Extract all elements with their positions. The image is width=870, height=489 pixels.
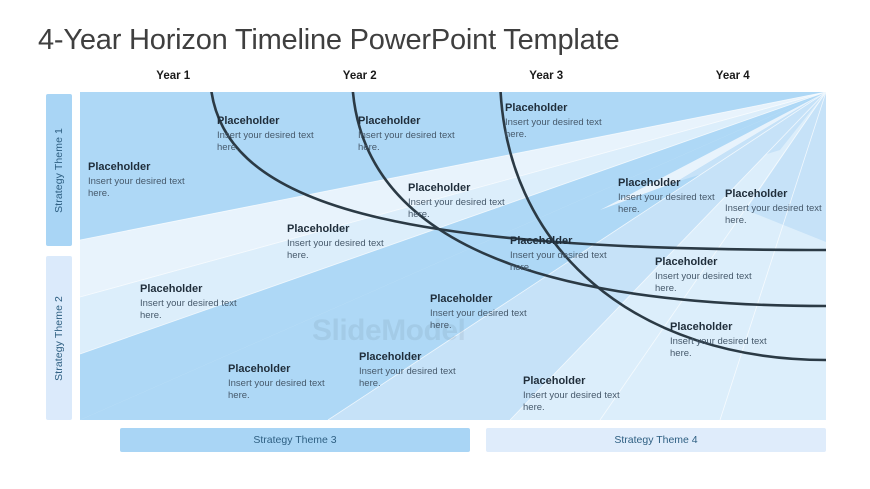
page-title: 4-Year Horizon Timeline PowerPoint Templ…: [38, 24, 619, 57]
placeholder-block[interactable]: PlaceholderInsert your desired text here…: [505, 101, 625, 140]
placeholder-body: Insert your desired text here.: [618, 192, 726, 215]
placeholder-title: Placeholder: [228, 362, 348, 376]
placeholder-title: Placeholder: [670, 320, 790, 334]
placeholder-title: Placeholder: [217, 114, 337, 128]
placeholder-title: Placeholder: [88, 160, 208, 174]
placeholder-title: Placeholder: [618, 176, 738, 190]
horizon-fan-diagram: PlaceholderInsert your desired text here…: [80, 92, 826, 420]
placeholder-body: Insert your desired text here.: [670, 336, 778, 359]
placeholder-body: Insert your desired text here.: [408, 197, 516, 220]
placeholder-title: Placeholder: [725, 187, 826, 201]
placeholder-title: Placeholder: [358, 114, 478, 128]
slide-canvas: 4-Year Horizon Timeline PowerPoint Templ…: [0, 0, 870, 489]
placeholder-block[interactable]: PlaceholderInsert your desired text here…: [140, 282, 260, 321]
placeholder-body: Insert your desired text here.: [358, 130, 466, 153]
placeholder-title: Placeholder: [287, 222, 407, 236]
placeholder-title: Placeholder: [140, 282, 260, 296]
placeholder-block[interactable]: PlaceholderInsert your desired text here…: [359, 350, 479, 389]
placeholder-title: Placeholder: [510, 234, 630, 248]
placeholder-block[interactable]: PlaceholderInsert your desired text here…: [523, 374, 643, 413]
placeholder-block[interactable]: PlaceholderInsert your desired text here…: [725, 187, 826, 226]
year-label-1: Year 1: [80, 70, 267, 82]
placeholder-body: Insert your desired text here.: [430, 308, 538, 331]
year-label-2: Year 2: [267, 70, 454, 82]
strategy-theme-4-label: Strategy Theme 4: [614, 434, 697, 446]
placeholder-block[interactable]: PlaceholderInsert your desired text here…: [510, 234, 630, 273]
placeholder-block[interactable]: PlaceholderInsert your desired text here…: [228, 362, 348, 401]
placeholder-body: Insert your desired text here.: [510, 250, 618, 273]
placeholder-body: Insert your desired text here.: [88, 176, 196, 199]
placeholder-block[interactable]: PlaceholderInsert your desired text here…: [287, 222, 407, 261]
placeholder-title: Placeholder: [359, 350, 479, 364]
year-label-3: Year 3: [453, 70, 640, 82]
placeholder-title: Placeholder: [655, 255, 775, 269]
placeholder-body: Insert your desired text here.: [505, 117, 613, 140]
placeholder-block[interactable]: PlaceholderInsert your desired text here…: [670, 320, 790, 359]
strategy-theme-3-label: Strategy Theme 3: [253, 434, 336, 446]
placeholder-block[interactable]: PlaceholderInsert your desired text here…: [217, 114, 337, 153]
placeholder-body: Insert your desired text here.: [228, 378, 336, 401]
placeholder-title: Placeholder: [505, 101, 625, 115]
placeholder-title: Placeholder: [430, 292, 550, 306]
placeholder-title: Placeholder: [408, 181, 528, 195]
placeholder-block[interactable]: PlaceholderInsert your desired text here…: [408, 181, 528, 220]
strategy-theme-1-label: Strategy Theme 1: [53, 128, 65, 213]
placeholder-body: Insert your desired text here.: [287, 238, 395, 261]
placeholder-body: Insert your desired text here.: [359, 366, 467, 389]
placeholder-title: Placeholder: [523, 374, 643, 388]
placeholder-body: Insert your desired text here.: [217, 130, 325, 153]
placeholder-block[interactable]: PlaceholderInsert your desired text here…: [618, 176, 738, 215]
sidebar-item-strategy-theme-1[interactable]: Strategy Theme 1: [46, 94, 72, 246]
year-label-4: Year 4: [640, 70, 827, 82]
placeholder-block[interactable]: PlaceholderInsert your desired text here…: [430, 292, 550, 331]
sidebar-item-strategy-theme-2[interactable]: Strategy Theme 2: [46, 256, 72, 420]
placeholder-block[interactable]: PlaceholderInsert your desired text here…: [358, 114, 478, 153]
placeholder-body: Insert your desired text here.: [655, 271, 763, 294]
placeholder-body: Insert your desired text here.: [140, 298, 248, 321]
placeholder-block[interactable]: PlaceholderInsert your desired text here…: [88, 160, 208, 199]
strategy-theme-4-bar[interactable]: Strategy Theme 4: [486, 428, 826, 452]
placeholder-body: Insert your desired text here.: [523, 390, 631, 413]
placeholder-body: Insert your desired text here.: [725, 203, 826, 226]
year-header-row: Year 1Year 2Year 3Year 4: [80, 70, 826, 90]
strategy-theme-3-bar[interactable]: Strategy Theme 3: [120, 428, 470, 452]
placeholder-block[interactable]: PlaceholderInsert your desired text here…: [655, 255, 775, 294]
strategy-theme-2-label: Strategy Theme 2: [53, 296, 65, 381]
